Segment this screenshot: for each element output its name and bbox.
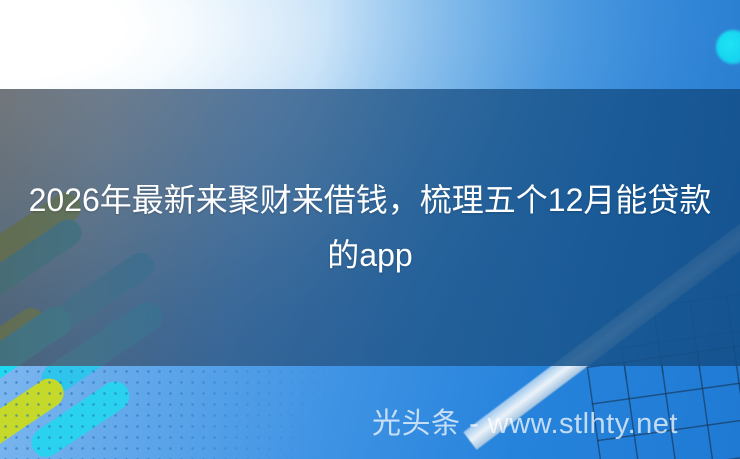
banner-image: 2026年最新来聚财来借钱，梳理五个12月能贷款的app 光头条 - www.s…	[0, 0, 740, 459]
site-watermark: 光头条 - www.stlhty.net	[372, 404, 678, 444]
halftone-dot-pattern	[0, 366, 330, 459]
title-container: 2026年最新来聚财来借钱，梳理五个12月能贷款的app	[0, 89, 740, 366]
banner-title: 2026年最新来聚财来借钱，梳理五个12月能贷款的app	[25, 173, 715, 283]
